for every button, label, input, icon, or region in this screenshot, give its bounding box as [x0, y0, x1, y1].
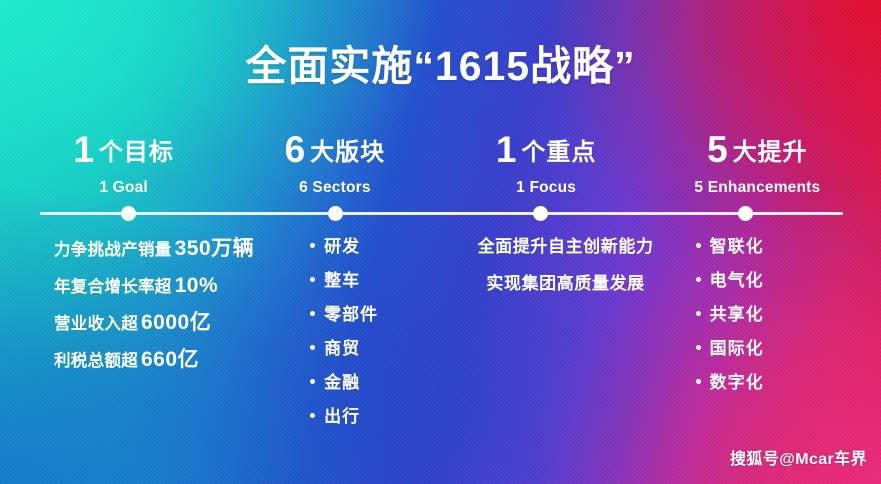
column-headings-row: 1个目标 1 Goal 6大版块 6 Sectors 1个重点 1 Focus … [18, 131, 863, 197]
stat-line: 利税总额超660亿 [54, 349, 254, 370]
heading-chinese-enhancements: 大提升 [733, 139, 808, 166]
divider-dot-2 [328, 206, 343, 221]
stat-line: 营业收入超6000亿 [54, 312, 254, 333]
divider-dot-3 [533, 206, 548, 221]
list-item: 国际化 [696, 340, 863, 357]
list-item-label: 出行 [324, 407, 360, 426]
content-column-enhancements: 智联化 电气化 共享化 国际化 数字化 [654, 238, 863, 442]
heading-main-focus: 1个重点 [441, 131, 652, 168]
list-item: 电气化 [696, 272, 863, 289]
bullet-dot-icon [696, 311, 701, 316]
list-item-label: 电气化 [710, 271, 764, 290]
list-item: 零部件 [310, 306, 477, 323]
content-column-focus: 全面提升自主创新能力 实现集团高质量发展 [478, 238, 654, 442]
watermark-label: 搜狐号@Mcar车界 [730, 445, 867, 469]
heading-english-focus: 1 Focus [441, 179, 652, 197]
list-item-label: 金融 [324, 373, 360, 392]
focus-line: 全面提升自主创新能力 [478, 238, 654, 255]
heading-main-goal: 1个目标 [18, 131, 229, 168]
list-item: 金融 [310, 374, 477, 391]
bullet-dot-icon [696, 243, 701, 248]
content-column-goal: 力争挑战产销量350万辆 年复合增长率超10% 营业收入超6000亿 利税总额超… [18, 238, 254, 442]
stat-label: 年复合增长率超 [54, 278, 172, 296]
heading-number-enhancements: 5 [707, 129, 728, 170]
list-item: 数字化 [696, 374, 863, 391]
divider-line [40, 212, 843, 215]
bullet-dot-icon [310, 243, 315, 248]
stat-value: 660亿 [141, 348, 199, 371]
column-heading-enhancements: 5大提升 5 Enhancements [652, 131, 863, 197]
focus-line: 实现集团高质量发展 [478, 275, 654, 292]
bullet-dot-icon [696, 345, 701, 350]
heading-chinese-sectors: 大版块 [310, 139, 385, 166]
list-item-label: 零部件 [324, 305, 378, 324]
stat-label: 营业收入超 [54, 315, 138, 333]
heading-chinese-focus: 个重点 [521, 139, 596, 166]
heading-chinese-goal: 个目标 [99, 139, 174, 166]
list-item: 智联化 [696, 238, 863, 255]
heading-main-enhancements: 5大提升 [652, 131, 863, 168]
heading-english-enhancements: 5 Enhancements [652, 179, 863, 197]
bullet-dot-icon [310, 413, 315, 418]
heading-number-focus: 1 [496, 129, 517, 170]
divider-dot-1 [121, 206, 136, 221]
list-item-label: 共享化 [710, 305, 764, 324]
column-heading-focus: 1个重点 1 Focus [441, 131, 652, 197]
list-item: 研发 [310, 238, 477, 255]
stat-value: 350万辆 [175, 237, 255, 260]
page-title: 全面实施“1615战略” [0, 44, 881, 89]
content-column-sectors: 研发 整车 零部件 商贸 金融 出行 [254, 238, 477, 442]
list-item-label: 研发 [324, 237, 360, 256]
bullet-dot-icon [310, 379, 315, 384]
column-heading-goal: 1个目标 1 Goal [18, 131, 229, 197]
bullet-dot-icon [310, 311, 315, 316]
heading-main-sectors: 6大版块 [229, 131, 440, 168]
stat-label: 利税总额超 [54, 352, 138, 370]
bullet-dot-icon [696, 277, 701, 282]
content-columns-row: 力争挑战产销量350万辆 年复合增长率超10% 营业收入超6000亿 利税总额超… [18, 238, 863, 442]
list-item: 出行 [310, 408, 477, 425]
timeline-divider [0, 206, 881, 222]
infographic-slide: 全面实施“1615战略” 1个目标 1 Goal 6大版块 6 Sectors … [0, 0, 881, 484]
list-item-label: 智联化 [710, 237, 764, 256]
heading-english-sectors: 6 Sectors [229, 179, 440, 197]
heading-number-goal: 1 [73, 129, 94, 170]
stat-line: 力争挑战产销量350万辆 [54, 238, 254, 259]
heading-number-sectors: 6 [285, 129, 306, 170]
list-item-label: 整车 [324, 271, 360, 290]
bullet-dot-icon [310, 277, 315, 282]
list-item: 商贸 [310, 340, 477, 357]
column-heading-sectors: 6大版块 6 Sectors [229, 131, 440, 197]
stat-value: 10% [175, 274, 219, 297]
heading-english-goal: 1 Goal [18, 179, 229, 197]
bullet-dot-icon [310, 345, 315, 350]
stat-line: 年复合增长率超10% [54, 275, 254, 296]
list-item: 共享化 [696, 306, 863, 323]
list-item-label: 数字化 [710, 373, 764, 392]
list-item: 整车 [310, 272, 477, 289]
stat-label: 力争挑战产销量 [54, 241, 172, 259]
bullet-dot-icon [696, 379, 701, 384]
list-item-label: 国际化 [710, 339, 764, 358]
divider-dot-4 [738, 206, 753, 221]
stat-value: 6000亿 [141, 311, 211, 334]
list-item-label: 商贸 [324, 339, 360, 358]
